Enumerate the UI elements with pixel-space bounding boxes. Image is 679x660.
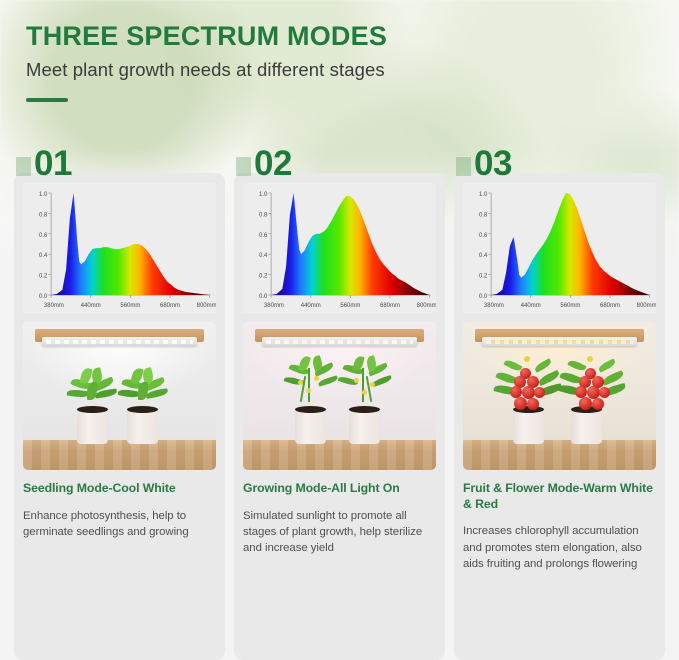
svg-text:800mm: 800mm xyxy=(417,302,436,309)
spectrum-chart-svg-1: 1.0 0.8 0.6 0.4 0.2 0.0 xyxy=(23,185,216,313)
spectrum-chart-3: 1.0 0.8 0.6 0.4 0.2 0.0 xyxy=(463,183,656,313)
svg-text:440mm: 440mm xyxy=(521,302,541,309)
svg-text:440mm: 440mm xyxy=(301,302,321,309)
plant-pot xyxy=(127,409,158,444)
svg-text:0.4: 0.4 xyxy=(479,252,488,259)
svg-text:680mm: 680mm xyxy=(160,302,180,309)
mode-description: Simulated sunlight to promote all stages… xyxy=(243,508,436,557)
plant-pot xyxy=(77,409,108,444)
spectrum-chart-svg-2: 1.0 0.8 0.6 0.4 0.2 0.0 xyxy=(243,185,436,313)
svg-text:380mm: 380mm xyxy=(44,302,64,309)
svg-text:560mm: 560mm xyxy=(120,302,140,309)
plant-pot xyxy=(349,409,380,444)
spectrum-chart-1: 1.0 0.8 0.6 0.4 0.2 0.0 xyxy=(23,183,216,313)
svg-text:440mm: 440mm xyxy=(81,302,101,309)
mode-card-2: 1.0 0.8 0.6 0.4 0.2 0.0 xyxy=(234,173,445,660)
led-strip xyxy=(266,340,413,344)
badge-number: 01 xyxy=(34,149,72,179)
svg-text:0.6: 0.6 xyxy=(259,232,268,239)
svg-text:0.0: 0.0 xyxy=(39,293,48,300)
spectrum-chart-svg-3: 1.0 0.8 0.6 0.4 0.2 0.0 xyxy=(463,185,656,313)
tomato-plant xyxy=(558,356,626,416)
mode-description: Increases chlorophyll accumulation and p… xyxy=(463,523,656,572)
badge-square-icon xyxy=(456,157,471,176)
mode-columns: 01 xyxy=(14,143,665,660)
mode-title: Fruit & Flower Mode-Warm White & Red xyxy=(463,481,656,512)
svg-text:0.0: 0.0 xyxy=(259,293,268,300)
svg-text:1.0: 1.0 xyxy=(479,191,488,198)
svg-text:680mm: 680mm xyxy=(600,302,620,309)
mode-column-3: 03 xyxy=(454,143,665,660)
mode-card-3: 1.0 0.8 0.6 0.4 0.2 0.0 xyxy=(454,173,665,660)
wood-table xyxy=(463,440,656,470)
svg-text:0.0: 0.0 xyxy=(479,293,488,300)
led-strip xyxy=(486,340,633,344)
badge-row-3: 03 xyxy=(454,143,665,179)
plant-foliage xyxy=(284,356,340,410)
svg-text:0.4: 0.4 xyxy=(259,252,268,259)
plant-pot xyxy=(295,409,326,444)
tomato-plant xyxy=(494,356,562,416)
svg-text:560mm: 560mm xyxy=(340,302,360,309)
page-subtitle: Meet plant growth needs at different sta… xyxy=(26,59,387,81)
led-strip xyxy=(46,340,193,344)
mode-photo-3 xyxy=(463,322,656,470)
mode-photo-2 xyxy=(243,322,436,470)
svg-text:0.4: 0.4 xyxy=(39,252,48,259)
plant-foliage xyxy=(65,366,121,412)
badge-number: 03 xyxy=(474,149,512,179)
mode-column-2: 02 xyxy=(234,143,445,660)
svg-text:380mm: 380mm xyxy=(484,302,504,309)
svg-text:0.2: 0.2 xyxy=(479,272,488,279)
page-title: THREE SPECTRUM MODES xyxy=(26,22,387,50)
svg-text:560mm: 560mm xyxy=(560,302,580,309)
badge-row-1: 01 xyxy=(14,143,225,179)
mode-photo-1 xyxy=(23,322,216,470)
mode-title: Growing Mode-All Light On xyxy=(243,481,436,497)
svg-text:0.6: 0.6 xyxy=(479,232,488,239)
mode-card-1: 1.0 0.8 0.6 0.4 0.2 0.0 xyxy=(14,173,225,660)
spectrum-chart-2: 1.0 0.8 0.6 0.4 0.2 0.0 xyxy=(243,183,436,313)
svg-text:1.0: 1.0 xyxy=(259,191,268,198)
wood-table xyxy=(243,440,436,470)
mode-title: Seedling Mode-Cool White xyxy=(23,481,216,497)
badge-number: 02 xyxy=(254,149,292,179)
mode-column-1: 01 xyxy=(14,143,225,660)
svg-text:800mm: 800mm xyxy=(637,302,656,309)
svg-text:1.0: 1.0 xyxy=(39,191,48,198)
wood-table xyxy=(23,440,216,470)
svg-text:680mm: 680mm xyxy=(380,302,400,309)
svg-text:0.8: 0.8 xyxy=(39,211,48,218)
svg-text:0.8: 0.8 xyxy=(479,211,488,218)
svg-text:0.8: 0.8 xyxy=(259,211,268,218)
badge-square-icon xyxy=(236,157,251,176)
header: THREE SPECTRUM MODES Meet plant growth n… xyxy=(26,22,387,102)
header-divider xyxy=(26,98,68,102)
svg-text:380mm: 380mm xyxy=(264,302,284,309)
plant-foliage xyxy=(338,356,394,410)
badge-row-2: 02 xyxy=(234,143,445,179)
svg-text:0.6: 0.6 xyxy=(39,232,48,239)
svg-text:800mm: 800mm xyxy=(197,302,216,309)
plant-foliage xyxy=(116,366,172,412)
badge-square-icon xyxy=(16,157,31,176)
svg-text:0.2: 0.2 xyxy=(259,272,268,279)
mode-description: Enhance photosynthesis, help to germinat… xyxy=(23,508,216,541)
svg-text:0.2: 0.2 xyxy=(39,272,48,279)
